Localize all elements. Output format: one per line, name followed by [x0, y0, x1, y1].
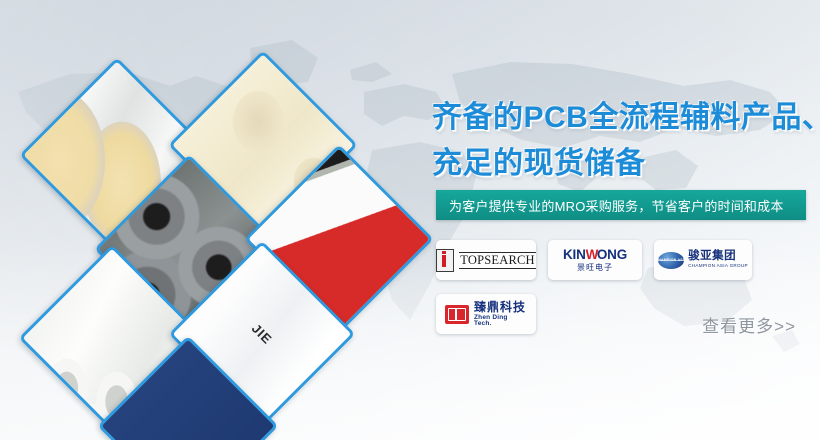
logo-card-topsearch[interactable]: TOPSEARCH: [436, 240, 536, 280]
headline-line-2: 充足的现货储备: [432, 138, 820, 182]
kinwong-name-cn-label: 景旺电子: [563, 264, 627, 272]
champion-asia-name-en-label: CHAMPION ASIA GROUP: [688, 264, 748, 269]
logo-card-kinwong[interactable]: KINWONG 景旺电子: [548, 240, 642, 280]
partner-logo-row-2: 臻鼎科技 Zhen Ding Tech.: [436, 294, 536, 334]
view-more-link[interactable]: 查看更多>>: [702, 312, 796, 337]
kinwong-wordmark-icon: KINWONG: [563, 248, 627, 262]
champion-asia-globe-icon: CHAMPION ASIA: [658, 252, 684, 269]
champion-asia-globe-text: CHAMPION ASIA: [658, 258, 684, 262]
kinwong-name-en-head: KIN: [563, 247, 586, 262]
kinwong-name-en-tail: ONG: [597, 247, 627, 262]
banner-content: 齐备的PCB全流程辅料产品、 充足的现货储备 为客户提供专业的MRO采购服务，节…: [432, 0, 820, 440]
topsearch-mark-icon: [436, 249, 454, 272]
kinwong-name-en-accent: W: [586, 247, 597, 262]
product-collage: JIE: [0, 0, 430, 440]
zhen-ding-name-en-label: Zhen Ding Tech.: [474, 315, 527, 328]
logo-card-zhen-ding[interactable]: 臻鼎科技 Zhen Ding Tech.: [436, 294, 536, 334]
headline-line-1: 齐备的PCB全流程辅料产品、: [432, 92, 820, 136]
zhen-ding-mark-icon: [445, 305, 469, 324]
logo-card-champion-asia[interactable]: CHAMPION ASIA 骏亚集团 CHAMPION ASIA GROUP: [654, 240, 752, 280]
champion-asia-name-cn-label: 骏亚集团: [688, 251, 748, 263]
promo-banner: JIE 齐备的PCB全流程辅料产品、 充足的现货储备 为客户提供专业的MRO采购…: [0, 0, 820, 440]
partner-logo-row-1: TOPSEARCH KINWONG 景旺电子 CHAMPION ASIA 骏亚集…: [436, 240, 752, 280]
subtitle-text: 为客户提供专业的MRO采购服务，节省客户的时间和成本: [436, 196, 784, 215]
subtitle-bar: 为客户提供专业的MRO采购服务，节省客户的时间和成本: [436, 190, 806, 220]
topsearch-name-label: TOPSEARCH: [459, 252, 536, 269]
zhen-ding-name-cn-label: 臻鼎科技: [474, 301, 527, 313]
